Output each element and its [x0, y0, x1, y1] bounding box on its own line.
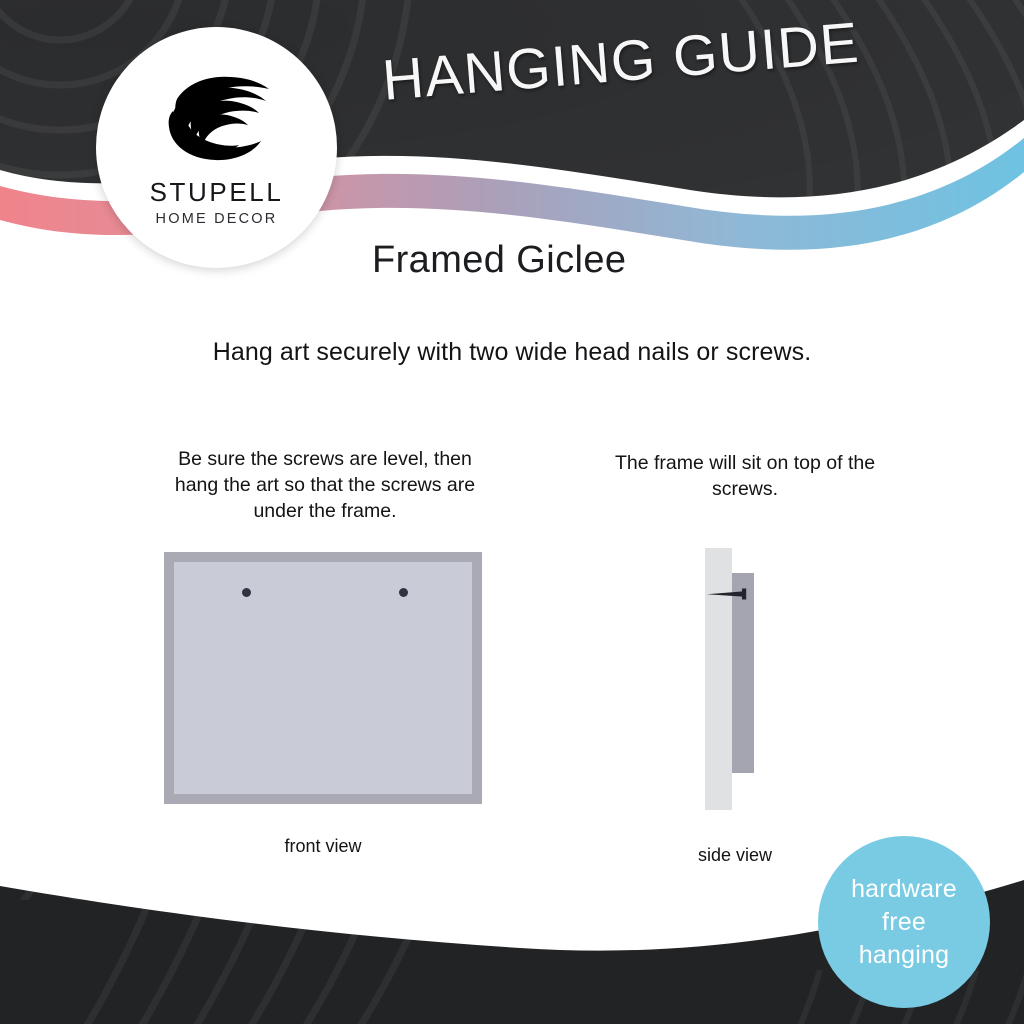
- front-view-caption: Be sure the screws are level, then hang …: [160, 446, 490, 524]
- side-view-diagram: [705, 548, 769, 810]
- page-title: HANGING GUIDE: [380, 10, 862, 114]
- brand-sub-wordmark: HOME DECOR: [156, 212, 278, 227]
- front-view-label: front view: [164, 836, 482, 857]
- brand-wordmark: STUPELL: [150, 179, 284, 205]
- front-view-frame-face: [174, 562, 472, 794]
- badge-line-3: hanging: [859, 939, 949, 972]
- side-view-caption: The frame will sit on top of the screws.: [600, 450, 890, 502]
- badge-line-1: hardware: [851, 873, 957, 906]
- hardware-free-hanging-badge: hardware free hanging: [818, 836, 990, 1008]
- front-view-frame-diagram: [164, 552, 482, 804]
- nail-side-icon: [707, 588, 755, 600]
- badge-line-2: free: [882, 906, 926, 939]
- main-instruction-text: Hang art securely with two wide head nai…: [0, 338, 1024, 367]
- hanging-guide-page: STUPELL HOME DECOR HANGING GUIDE Framed …: [0, 0, 1024, 1024]
- stupell-swoosh-logo-icon: [153, 55, 281, 175]
- brand-logo-badge: STUPELL HOME DECOR: [96, 27, 337, 268]
- side-view-frame: [732, 573, 754, 773]
- product-type-subtitle: Framed Giclee: [372, 239, 626, 282]
- screw-dot-left-icon: [242, 588, 251, 597]
- side-view-label: side view: [660, 845, 810, 866]
- screw-dot-right-icon: [399, 588, 408, 597]
